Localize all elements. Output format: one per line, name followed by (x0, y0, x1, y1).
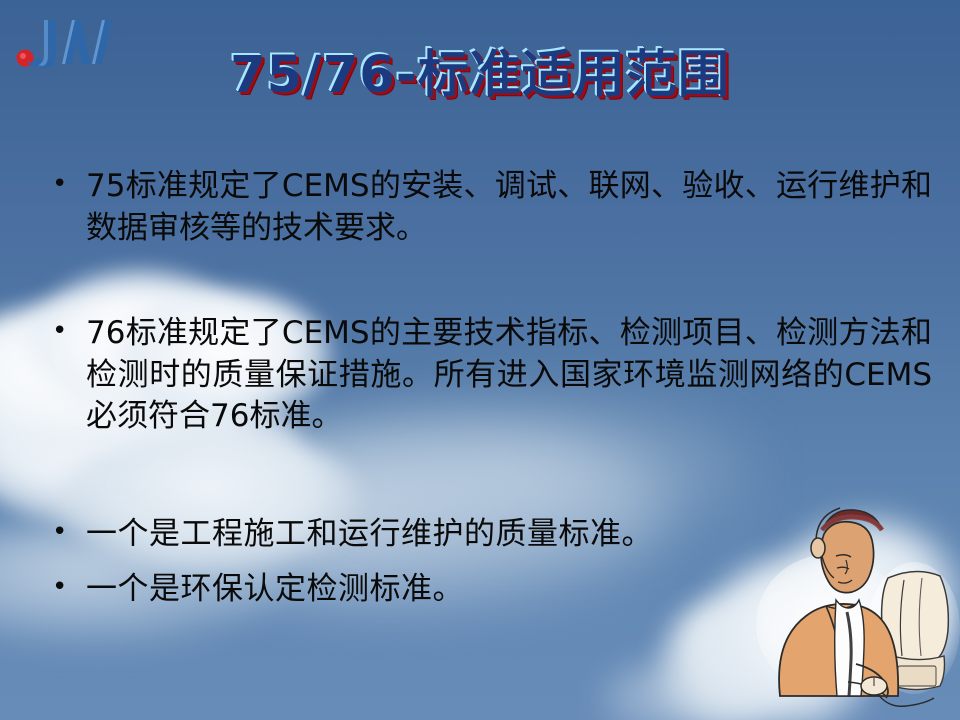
bullet-item: • 75标准规定了CEMS的安装、调试、联网、验收、运行维护和数据审核等的技术要… (52, 166, 932, 249)
bullet-item: • 76标准规定了CEMS的主要技术指标、检测项目、检测方法和检测时的质量保证措… (52, 313, 932, 438)
bullet-marker: • (52, 313, 86, 351)
bullet-marker: • (52, 569, 86, 607)
bullet-marker: • (52, 166, 86, 204)
bullet-text: 76标准规定了CEMS的主要技术指标、检测项目、检测方法和检测时的质量保证措施。… (86, 313, 932, 438)
businessman-headset-icon (752, 496, 960, 720)
presentation-slide: 75/76-标准适用范围 • 75标准规定了CEMS的安装、调试、联网、验收、运… (0, 0, 960, 720)
bullet-text: 75标准规定了CEMS的安装、调试、联网、验收、运行维护和数据审核等的技术要求。 (86, 166, 932, 249)
slide-title: 75/76-标准适用范围 (0, 33, 960, 107)
bullet-marker: • (52, 514, 86, 552)
illustration-businessman-computer (752, 496, 960, 720)
